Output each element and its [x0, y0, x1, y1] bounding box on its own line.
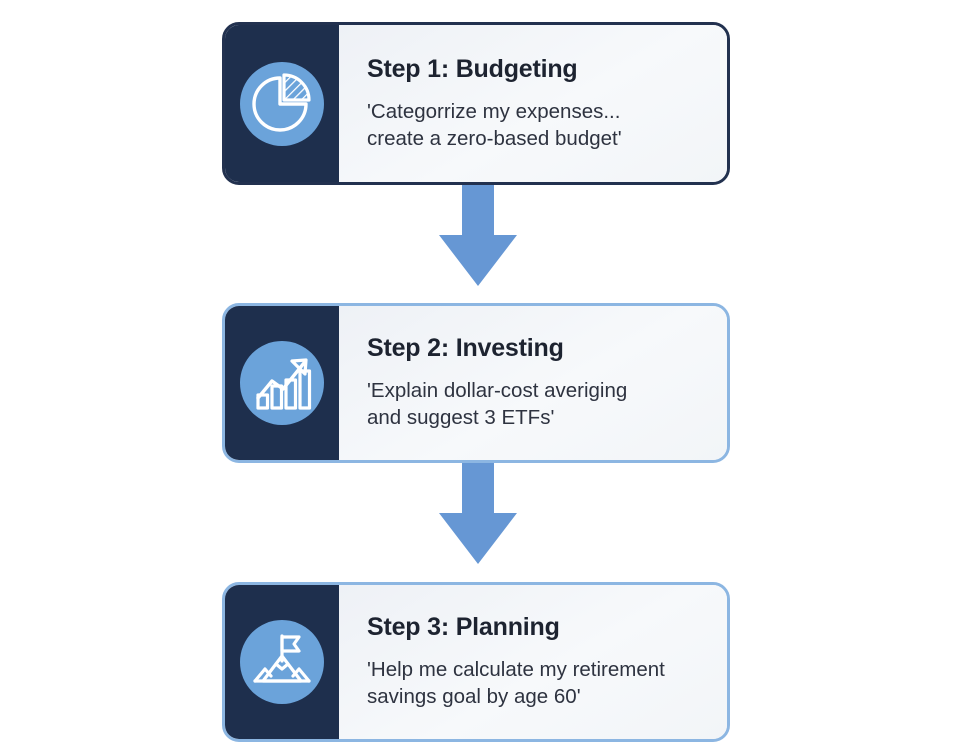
arrow-down-icon-2	[436, 463, 520, 567]
step-2-prompt: 'Explain dollar-cost averiging and sugge…	[367, 377, 705, 432]
growth-bar-chart-icon	[240, 341, 324, 425]
step-3-icon-panel	[225, 585, 339, 739]
step-2-icon-panel	[225, 306, 339, 460]
step-2-text-panel: Step 2: Investing 'Explain dollar-cost a…	[339, 306, 727, 460]
step-3-title: Step 3: Planning	[367, 613, 705, 642]
step-1-title: Step 1: Budgeting	[367, 55, 705, 84]
step-1-text-panel: Step 1: Budgeting 'Categorrize my expens…	[339, 25, 727, 182]
pie-chart-icon	[240, 62, 324, 146]
step-3-text-panel: Step 3: Planning 'Help me calculate my r…	[339, 585, 727, 739]
step-card-2[interactable]: Step 2: Investing 'Explain dollar-cost a…	[222, 303, 730, 463]
step-card-3[interactable]: Step 3: Planning 'Help me calculate my r…	[222, 582, 730, 742]
step-1-prompt: 'Categorrize my expenses... create a zer…	[367, 98, 705, 153]
step-2-title: Step 2: Investing	[367, 334, 705, 363]
step-1-icon-panel	[225, 25, 339, 182]
mountain-flag-icon	[240, 620, 324, 704]
step-flow-diagram: Step 1: Budgeting 'Categorrize my expens…	[0, 0, 960, 750]
arrow-down-icon-1	[436, 185, 520, 289]
step-card-1[interactable]: Step 1: Budgeting 'Categorrize my expens…	[222, 22, 730, 185]
step-3-prompt: 'Help me calculate my retirement savings…	[367, 656, 705, 711]
